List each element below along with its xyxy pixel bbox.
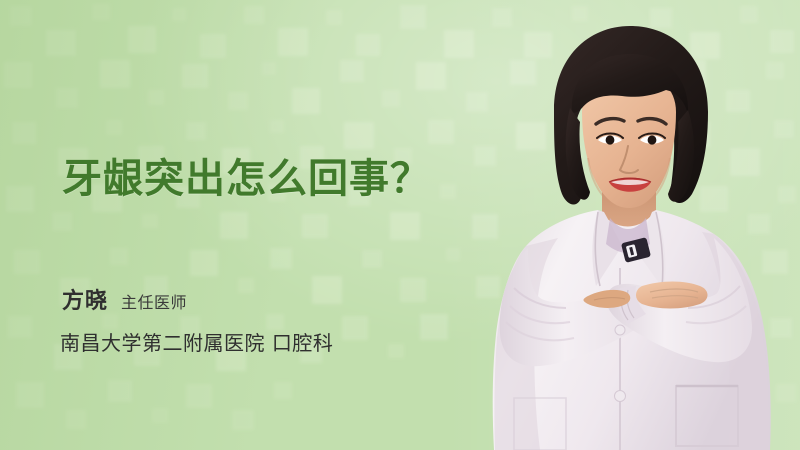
doctor-banner: 牙龈突出怎么回事？ 方晓 主任医师 南昌大学第二附属医院 口腔科 [0, 0, 800, 450]
doctor-affiliation: 南昌大学第二附属医院 口腔科 [60, 327, 333, 356]
doctor-portrait [470, 0, 800, 450]
page-title: 牙龈突出怎么回事？ [62, 146, 431, 204]
doctor-name: 方晓 [62, 283, 108, 315]
doctor-professional-title: 主任医师 [121, 289, 187, 313]
doctor-identity: 方晓 主任医师 [62, 283, 187, 315]
